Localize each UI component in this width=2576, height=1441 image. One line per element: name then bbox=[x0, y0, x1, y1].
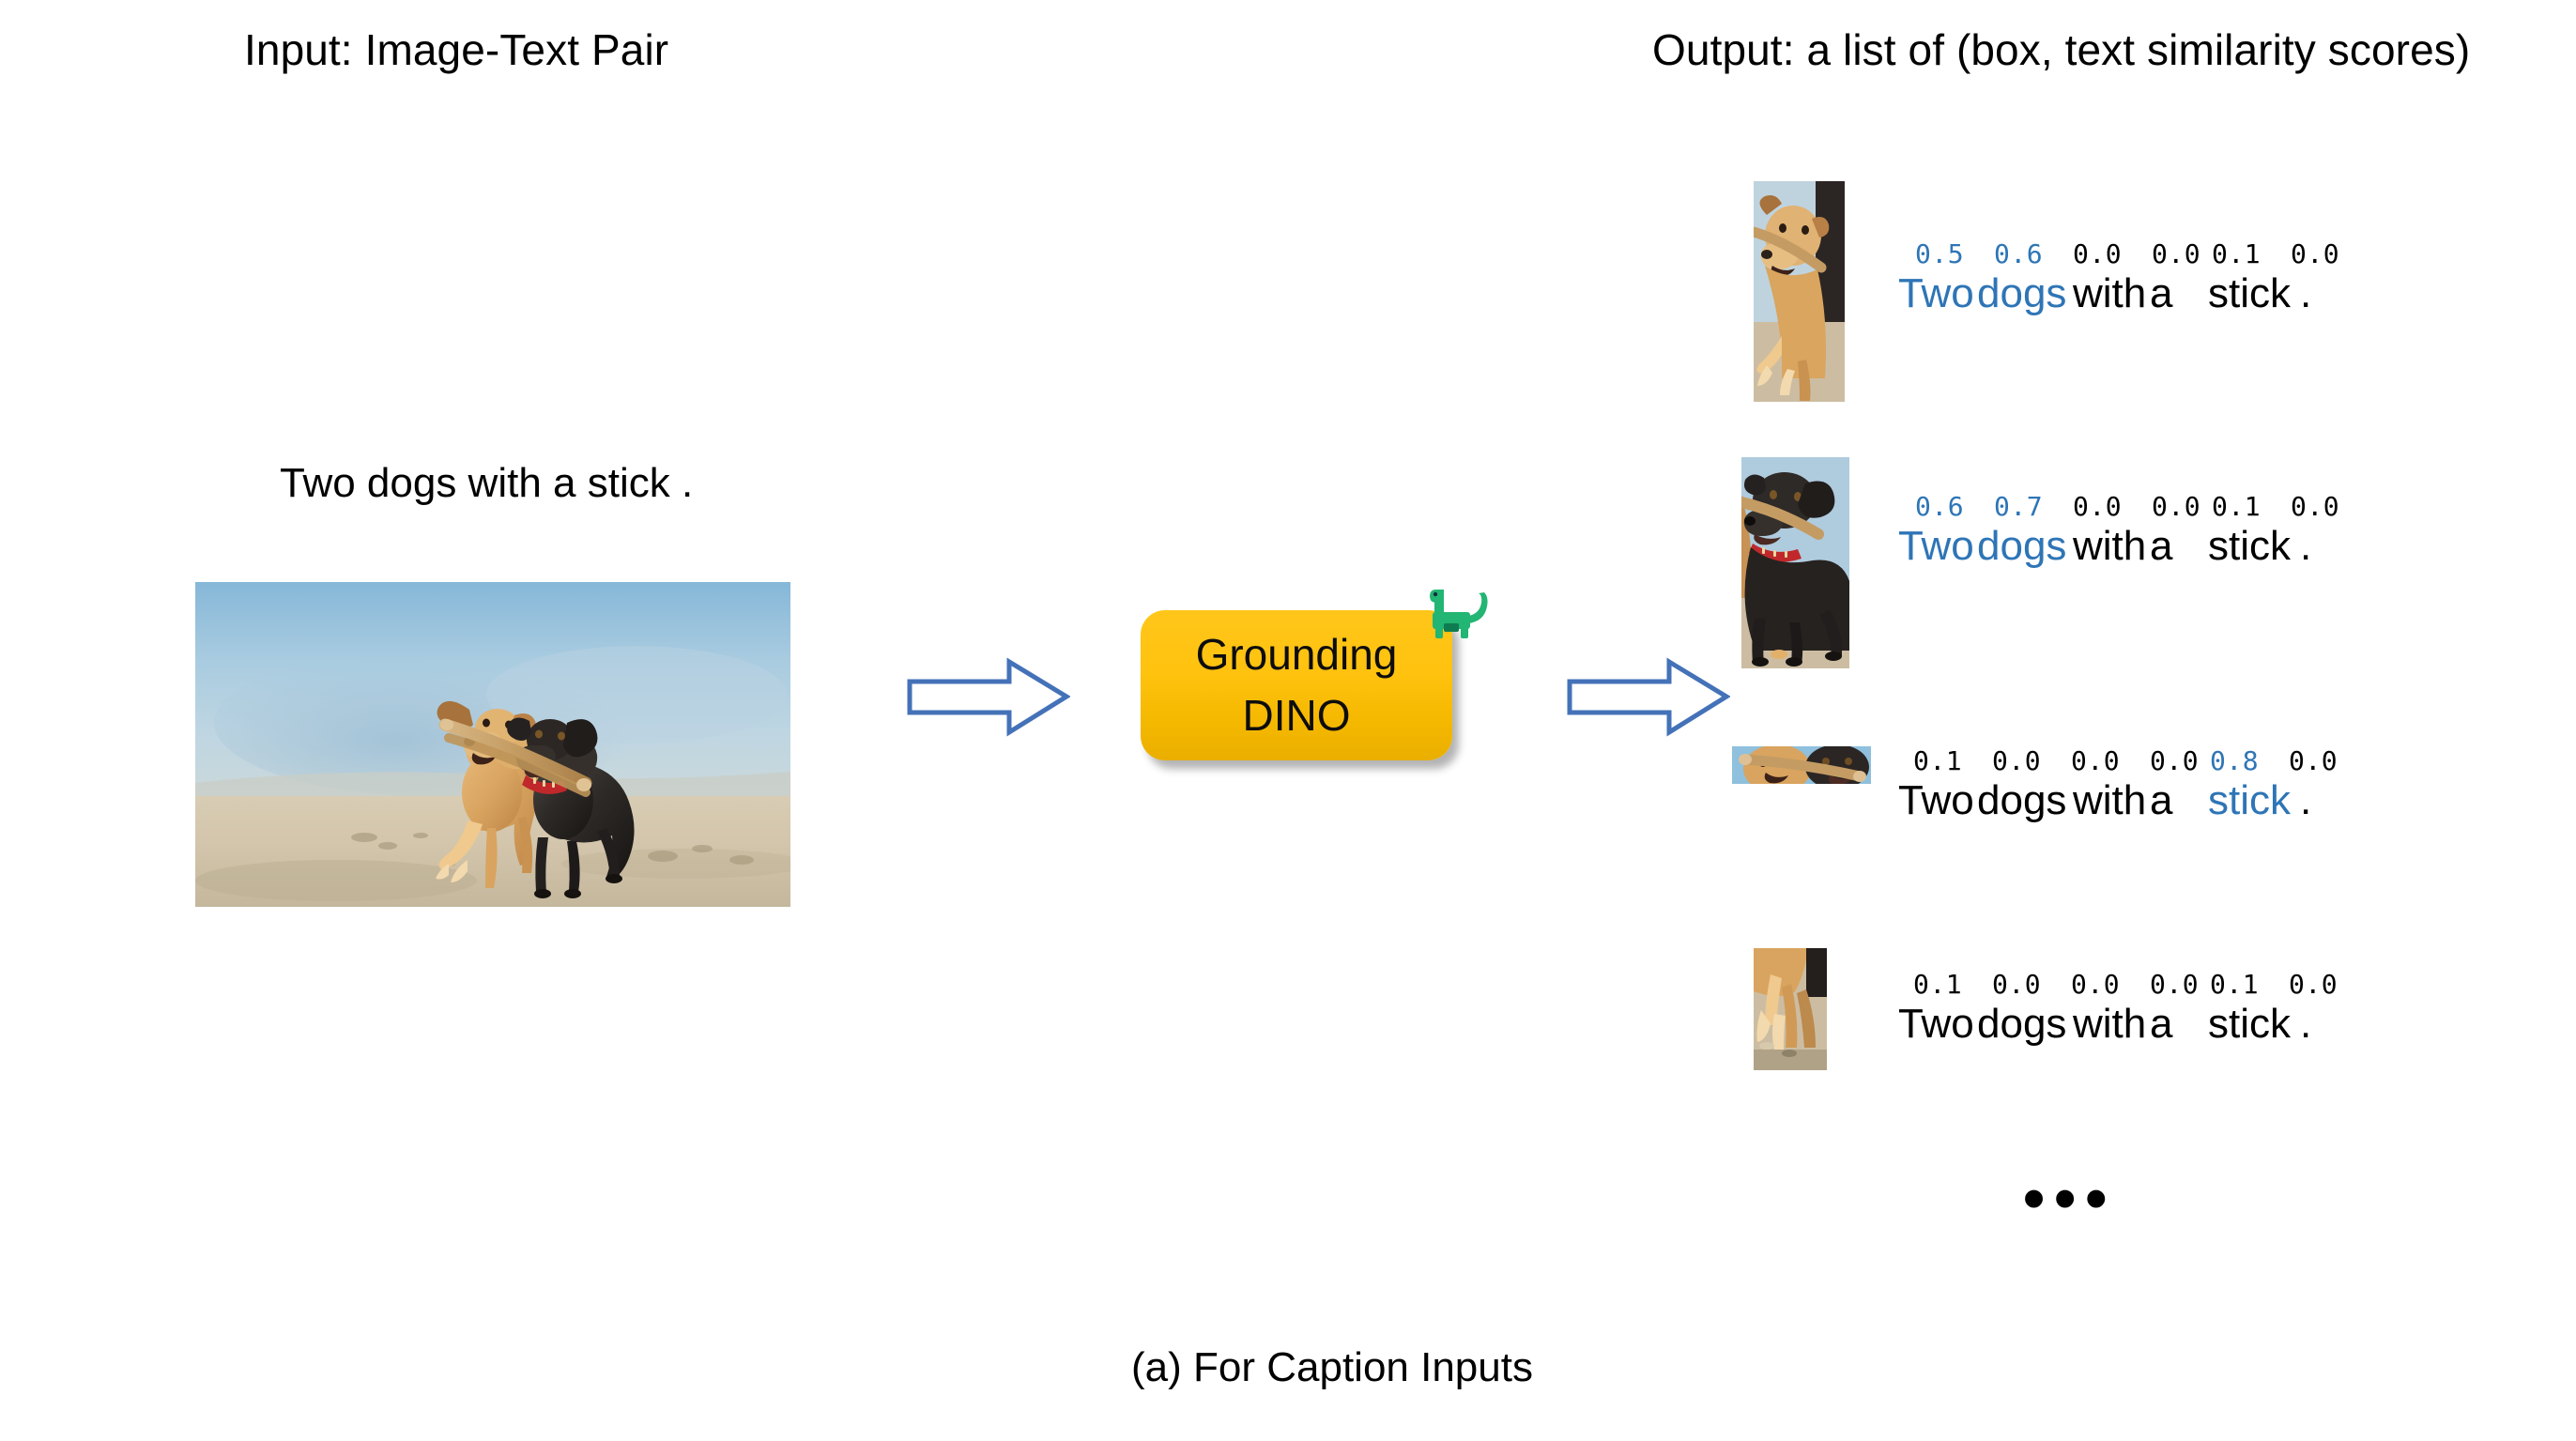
figure-canvas: Input: Image-Text Pair Output: a list of… bbox=[0, 0, 2576, 1441]
input-image bbox=[195, 582, 790, 907]
token-cell: . bbox=[2300, 523, 2338, 570]
token-cell: dogs bbox=[1977, 777, 2073, 824]
token-cell: a bbox=[2150, 1001, 2208, 1048]
score-cell: 0.0 bbox=[2289, 745, 2349, 776]
token-cell: . bbox=[2300, 270, 2338, 317]
token-cell: Two bbox=[1898, 1001, 1977, 1048]
token-cell: a bbox=[2150, 523, 2208, 570]
score-cell: 0.0 bbox=[2291, 491, 2351, 522]
token-cell: stick bbox=[2208, 523, 2300, 570]
token-cell: . bbox=[2300, 1001, 2338, 1048]
caption-tokens-row3: Twodogswithastick. bbox=[1898, 777, 2338, 824]
score-cell: 0.0 bbox=[2150, 745, 2210, 776]
arrow-input-to-model bbox=[906, 657, 1070, 737]
input-column-header: Input: Image-Text Pair bbox=[244, 24, 668, 75]
score-cell: 0.0 bbox=[2150, 969, 2210, 1000]
score-cell: 0.8 bbox=[2210, 745, 2289, 776]
model-name-line2: DINO bbox=[1243, 685, 1351, 746]
arrow-model-to-output bbox=[1566, 657, 1730, 737]
score-cell: 0.0 bbox=[2073, 491, 2152, 522]
beach-dogs-photo bbox=[195, 582, 790, 907]
token-cell: a bbox=[2150, 270, 2208, 317]
score-cell: 0.1 bbox=[2212, 491, 2291, 522]
score-cell: 0.0 bbox=[2071, 745, 2150, 776]
caption-tokens-row4: Twodogswithastick. bbox=[1898, 1001, 2338, 1048]
right-arrow-icon bbox=[906, 657, 1070, 737]
token-cell: dogs bbox=[1977, 1001, 2073, 1048]
grounding-dino-box[interactable]: Grounding DINO bbox=[1141, 610, 1452, 760]
similarity-scores-row1: 0.50.60.00.00.10.0 bbox=[1915, 238, 2351, 269]
similarity-scores-row2: 0.60.70.00.00.10.0 bbox=[1915, 491, 2351, 522]
thumbnail-stick bbox=[1732, 746, 1871, 784]
token-cell: . bbox=[2300, 777, 2338, 824]
dinosaur-icon bbox=[1425, 582, 1493, 644]
thumbnail-tan-dog bbox=[1754, 181, 1845, 402]
similarity-scores-row3: 0.10.00.00.00.80.0 bbox=[1913, 745, 2349, 776]
token-cell: Two bbox=[1898, 777, 1977, 824]
token-cell: stick bbox=[2208, 1001, 2300, 1048]
token-cell: stick bbox=[2208, 777, 2300, 824]
token-cell: with bbox=[2073, 777, 2150, 824]
token-cell: a bbox=[2150, 777, 2208, 824]
right-arrow-icon bbox=[1566, 657, 1730, 737]
score-cell: 0.0 bbox=[2152, 491, 2212, 522]
score-cell: 0.0 bbox=[1992, 745, 2071, 776]
thumbnail-dog-legs bbox=[1754, 948, 1827, 1070]
thumbnail-black-dog bbox=[1741, 457, 1849, 668]
more-results-ellipsis: ••• bbox=[2023, 1167, 2116, 1229]
score-cell: 0.0 bbox=[1992, 969, 2071, 1000]
caption-tokens-row1: Twodogswithastick. bbox=[1898, 270, 2338, 317]
score-cell: 0.1 bbox=[2210, 969, 2289, 1000]
token-cell: dogs bbox=[1977, 270, 2073, 317]
token-cell: with bbox=[2073, 270, 2150, 317]
score-cell: 0.0 bbox=[2289, 969, 2349, 1000]
similarity-scores-row4: 0.10.00.00.00.10.0 bbox=[1913, 969, 2349, 1000]
token-cell: Two bbox=[1898, 523, 1977, 570]
score-cell: 0.6 bbox=[1915, 491, 1994, 522]
caption-tokens-row2: Twodogswithastick. bbox=[1898, 523, 2338, 570]
token-cell: with bbox=[2073, 523, 2150, 570]
score-cell: 0.5 bbox=[1915, 238, 1994, 269]
score-cell: 0.7 bbox=[1994, 491, 2073, 522]
score-cell: 0.6 bbox=[1994, 238, 2073, 269]
figure-caption: (a) For Caption Inputs bbox=[1131, 1344, 1533, 1391]
model-name-line1: Grounding bbox=[1196, 624, 1398, 685]
score-cell: 0.0 bbox=[2152, 238, 2212, 269]
output-column-header: Output: a list of (box, text similarity … bbox=[1652, 24, 2470, 75]
token-cell: stick bbox=[2208, 270, 2300, 317]
token-cell: dogs bbox=[1977, 523, 2073, 570]
token-cell: with bbox=[2073, 1001, 2150, 1048]
score-cell: 0.1 bbox=[1913, 745, 1992, 776]
score-cell: 0.0 bbox=[2073, 238, 2152, 269]
score-cell: 0.1 bbox=[1913, 969, 1992, 1000]
score-cell: 0.0 bbox=[2071, 969, 2150, 1000]
token-cell: Two bbox=[1898, 270, 1977, 317]
input-text-prompt: Two dogs with a stick . bbox=[280, 460, 693, 507]
score-cell: 0.0 bbox=[2291, 238, 2351, 269]
score-cell: 0.1 bbox=[2212, 238, 2291, 269]
